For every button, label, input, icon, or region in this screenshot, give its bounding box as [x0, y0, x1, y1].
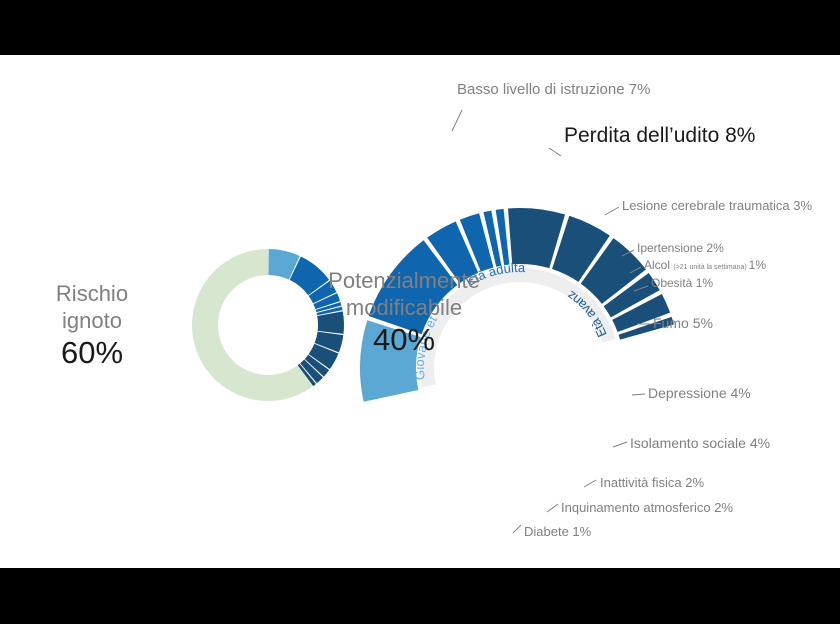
risk-split-donut	[192, 249, 344, 401]
leader-line-depressione	[632, 394, 645, 395]
fan-label-inquinamento-atmosferico: Inquinamento atmosferico 2%	[561, 500, 733, 515]
unknown-risk-label-line2: ignoto	[62, 308, 122, 333]
fan-label-percent-ipertensione: 2%	[706, 241, 724, 255]
fan-label-text-inquinamento-atmosferico: Inquinamento atmosferico	[561, 500, 714, 515]
fan-label-percent-obesita: 1%	[696, 276, 714, 290]
fan-label-text-alcol: Alcol	[644, 258, 673, 272]
fan-label-fumo: Fumo 5%	[653, 315, 713, 331]
leader-line-inquinamento-atmosferico	[547, 504, 558, 512]
leader-line-inattivita-fisica	[584, 480, 596, 487]
fan-label-lesione-cerebrale-traumatica: Lesione cerebrale traumatica 3%	[622, 198, 812, 213]
figure-stage: Basso livello di istruzione 7%Perdita de…	[0, 0, 840, 624]
fan-label-percent-depressione: 4%	[731, 385, 751, 401]
fan-label-alcol: Alcol (>21 unità la settimana) 1%	[644, 258, 766, 272]
fan-label-percent-inattivita-fisica: 2%	[685, 475, 704, 490]
unknown-risk-label-value: 60%	[61, 335, 123, 370]
fan-label-percent-isolamento-sociale: 4%	[750, 435, 770, 451]
fan-label-text-obesita: Obesità	[651, 276, 696, 290]
fan-label-percent-diabete: 1%	[572, 524, 591, 539]
leader-line-perdita-dell-udito	[549, 148, 561, 156]
fan-label-percent-inquinamento-atmosferico: 2%	[714, 500, 733, 515]
leader-line-isolamento-sociale	[613, 442, 627, 447]
fan-label-percent-perdita-dell-udito: 8%	[725, 124, 755, 147]
leader-line-lesione-cerebrale-traumatica	[605, 207, 619, 215]
donut-segment-fumo	[317, 311, 344, 334]
fan-label-text-diabete: Diabete	[524, 524, 572, 539]
fan-label-percent-lesione-cerebrale-traumatica: 3%	[793, 198, 812, 213]
fan-label-sub-alcol: (>21 unità la settimana)	[673, 264, 748, 271]
fan-label-perdita-dell-udito: Perdita dell’udito 8%	[564, 124, 755, 147]
fan-label-text-depressione: Depressione	[648, 385, 731, 401]
fan-label-text-isolamento-sociale: Isolamento sociale	[630, 435, 750, 451]
unknown-risk-label: Rischioignoto60%	[56, 281, 128, 370]
fan-label-isolamento-sociale: Isolamento sociale 4%	[630, 435, 770, 451]
fan-label-text-ipertensione: Ipertensione	[637, 241, 706, 255]
fan-label-ipertensione: Ipertensione 2%	[637, 241, 724, 255]
fan-label-percent-basso-livello-di-istruzione: 7%	[629, 81, 651, 98]
letterbox-top	[0, 0, 840, 55]
modifiable-risk-label-value: 40%	[373, 322, 435, 357]
fan-label-text-lesione-cerebrale-traumatica: Lesione cerebrale traumatica	[622, 198, 793, 213]
fan-label-basso-livello-di-istruzione: Basso livello di istruzione 7%	[457, 81, 650, 98]
leader-line-diabete	[513, 525, 521, 533]
fan-label-diabete: Diabete 1%	[524, 524, 592, 539]
modifiable-risk-label: Potenzialmentemodificabile40%	[328, 268, 480, 357]
modifiable-risk-label-line1: Potenzialmente	[328, 268, 480, 293]
unknown-risk-label-line1: Rischio	[56, 281, 128, 306]
fan-label-text-basso-livello-di-istruzione: Basso livello di istruzione	[457, 81, 629, 98]
fan-label-inattivita-fisica: Inattività fisica 2%	[600, 475, 704, 490]
fan-label-percent-fumo: 5%	[693, 315, 713, 331]
dementia-risk-figure: Basso livello di istruzione 7%Perdita de…	[0, 55, 840, 568]
letterbox-bottom	[0, 568, 840, 624]
fan-label-text-fumo: Fumo	[653, 315, 693, 331]
fan-label-text-inattivita-fisica: Inattività fisica	[600, 475, 685, 490]
fan-label-percent-alcol: 1%	[749, 258, 767, 272]
leader-line-basso-livello-di-istruzione	[452, 110, 462, 131]
infographic-canvas: Basso livello di istruzione 7%Perdita de…	[0, 55, 840, 568]
modifiable-risk-label-line2: modificabile	[346, 295, 462, 320]
fan-label-obesita: Obesità 1%	[651, 276, 713, 290]
fan-label-text-perdita-dell-udito: Perdita dell’udito	[564, 124, 725, 147]
fan-label-depressione: Depressione 4%	[648, 385, 751, 401]
donut-center-labels: Rischioignoto60%Potenzialmentemodificabi…	[56, 268, 480, 370]
